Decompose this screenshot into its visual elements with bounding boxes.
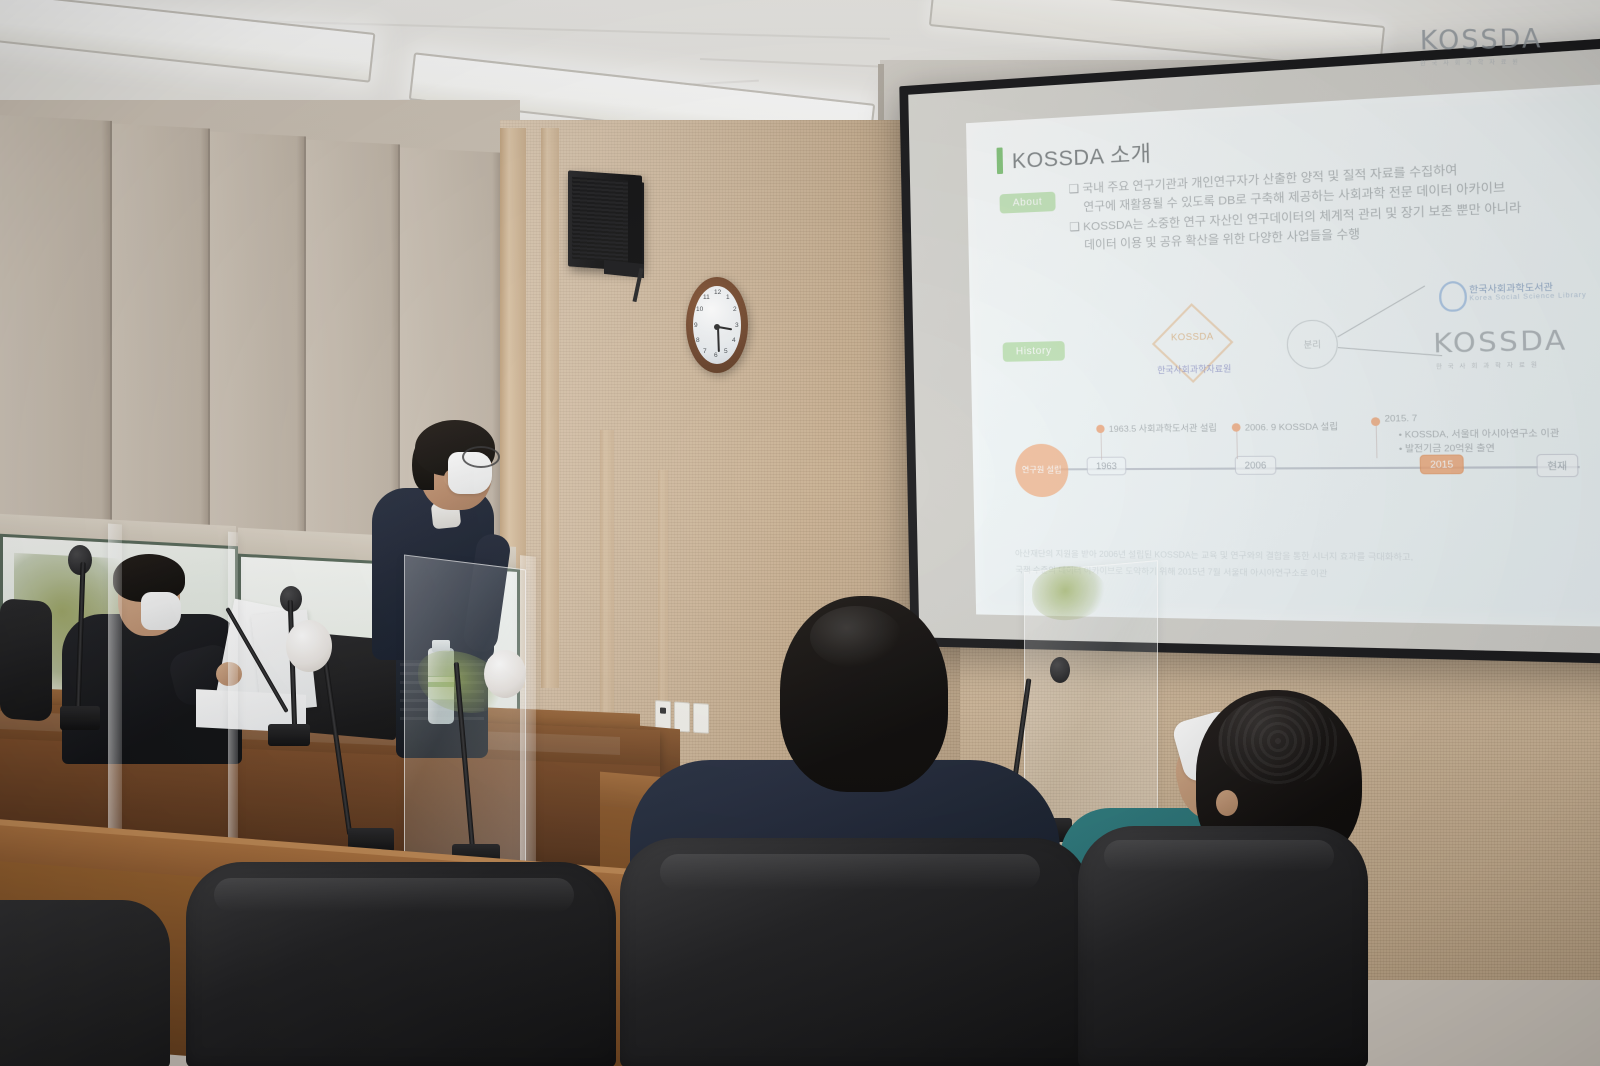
timeline-sub-event: • 발전기금 20억원 출연 [1399,441,1495,455]
timeline-sub-event: • KOSSDA, 서울대 아시아연구소 이관 [1398,426,1559,441]
clock-numeral: 11 [703,294,710,301]
timeline-event-label: 2006. 9 KOSSDA 설립 [1245,420,1339,434]
timeline-node: 2006 [1235,456,1277,475]
timeline-axis [1058,466,1580,471]
kossda-corner-logo-text: KOSSDA [1420,23,1591,57]
light-switch[interactable] [693,703,709,734]
clock-numeral: 6 [714,352,718,359]
attendee-hair-highlight [810,606,902,668]
timeline-start-label: 연구원 설립 [1022,466,1062,476]
switch-indicator [660,707,666,713]
arrow-icon [1338,347,1442,357]
timeline-event-stem [1101,433,1103,460]
wall-panel [112,123,210,548]
light-switch[interactable] [674,701,690,732]
timeline-event-dot [1371,417,1380,426]
acrylic-divider [108,524,122,855]
timeline-event-label: 2015. 7 [1384,412,1417,423]
kossda-corner-logo-sub: 한국사회과학자료원 [1420,56,1590,68]
clock-numeral: 1 [726,294,730,301]
timeline-event-stem [1236,432,1238,459]
slide-bullet-list: ❑ 국내 주요 연구기관과 개인연구자가 산출한 양적 및 질적 자료를 수집하… [1068,154,1593,256]
attendee-curly-hair [1218,696,1338,786]
timeline-node: 1963 [1087,457,1127,476]
clock-numeral: 5 [724,348,728,355]
face-mask [141,592,181,630]
presentation-slide: KOSSDA 소개 About History ❑ 국내 주요 연구기관과 개인… [966,84,1600,627]
library-logo-icon [1439,281,1467,312]
slide-title: KOSSDA 소개 [1012,137,1152,175]
wall-panel [306,140,400,545]
chair[interactable] [0,598,52,722]
wall-clock: 12 1 2 3 4 5 6 7 8 9 10 11 [686,277,748,373]
microphone-base[interactable] [60,706,100,730]
clock-numeral: 4 [732,337,736,344]
wall-panel [210,131,306,546]
speaker-grille [572,177,628,263]
screen-surface: KOSSDA 소개 About History ❑ 국내 주요 연구기관과 개인… [908,45,1600,655]
slide-title-accent-bar [997,147,1004,174]
chair-highlight [1104,840,1334,872]
timeline-event-stem [1376,426,1378,458]
microphone-windscreen [286,620,332,672]
clock-numeral: 9 [694,322,698,329]
clock-center-pin [714,324,720,330]
projection-screen: KOSSDA 소개 About History ❑ 국내 주요 연구기관과 개인… [899,34,1600,665]
clock-minute-hand [717,327,720,352]
chair-highlight [660,854,1040,890]
timeline-start-badge: 연구원 설립 [1015,444,1069,497]
clock-numeral: 2 [733,306,737,313]
clock-numeral: 10 [696,306,703,313]
wall-pilaster [541,128,559,688]
wall-pilaster [600,430,614,720]
timeline-event-label: 1963.5 사회과학도서관 설립 [1109,421,1217,435]
eyeglasses [462,446,500,468]
split-label: 분리 [1303,338,1321,351]
microphone-windscreen [484,650,526,698]
clock-numeral: 8 [696,337,700,344]
clock-numeral: 7 [703,348,707,355]
split-circle-icon: 분리 [1286,319,1338,369]
seminar-room-photo: 12 1 2 3 4 5 6 7 8 9 10 11 KO [0,0,1600,1066]
slide-timeline: 연구원 설립 1963 2006 2015 현재 1963.5 사회과학도서관 … [998,404,1595,527]
wall-pilaster [658,470,668,720]
new-kossda-logo-sub: 한국사회과학자료원 [1436,360,1543,371]
slide-logo-diagram: KOSSDA 한국사회과학자료원 분리 한국사회과학도서관 Korea Soci… [1091,283,1597,394]
chair-highlight [214,878,574,912]
timeline-event-dot [1232,423,1241,432]
new-kossda-logo: KOSSDA [1433,324,1568,359]
microphone-base[interactable] [268,724,310,746]
attendee-ear [1216,790,1238,816]
clock-numeral: 3 [735,322,739,329]
arrow-icon [1337,285,1425,337]
microphone-capsule [1050,657,1070,683]
acrylic-shield-presenter [404,555,526,872]
old-kossda-institute-name: 한국사회과학자료원 [1130,362,1259,377]
wall-panel [0,115,112,551]
acrylic-divider [228,532,238,853]
about-badge: About [999,192,1055,214]
timeline-node: 현재 [1536,454,1578,477]
kossda-corner-logo: KOSSDA 한국사회과학자료원 [1420,23,1591,80]
clock-numeral: 12 [714,289,721,296]
history-badge: History [1003,341,1066,362]
chair[interactable] [0,900,170,1066]
timeline-node-highlighted: 2015 [1420,454,1464,474]
wall-speaker [568,170,642,271]
timeline-event-dot [1096,425,1104,433]
clock-face: 12 1 2 3 4 5 6 7 8 9 10 11 [693,286,741,364]
slide-title-group: KOSSDA 소개 [996,137,1151,176]
